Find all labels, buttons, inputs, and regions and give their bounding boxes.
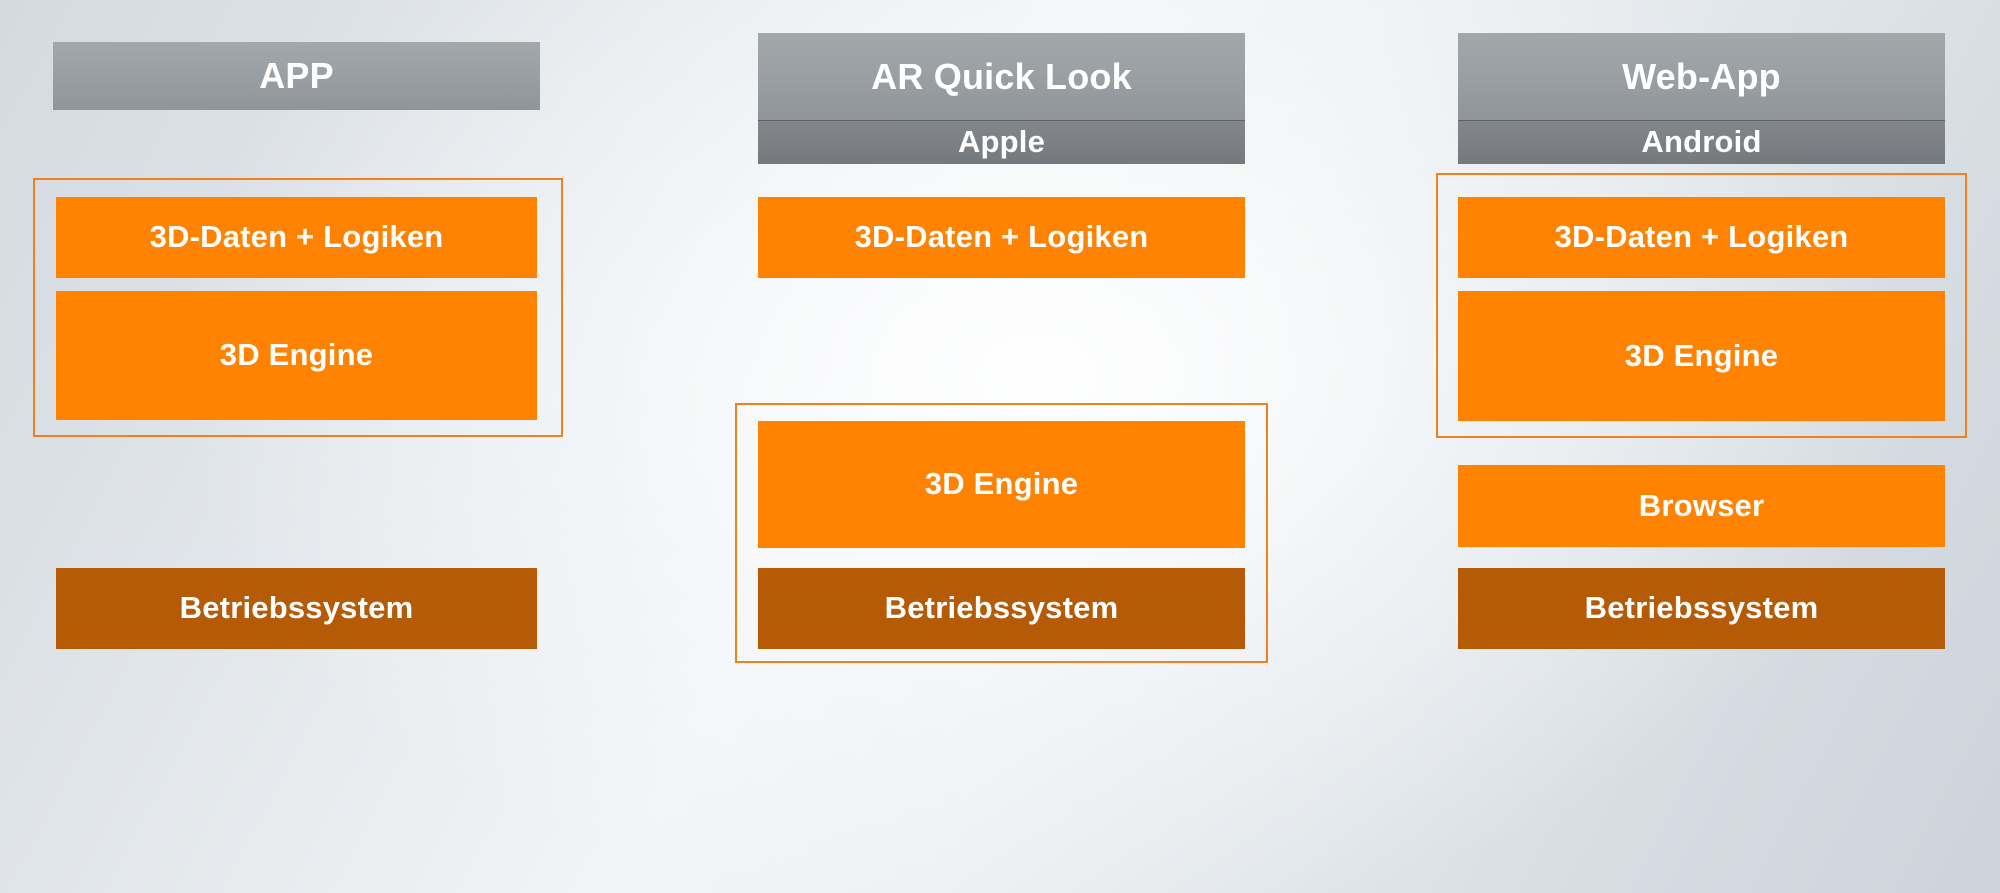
column-ar-quick-look-block-betriebssystem: Betriebssystem	[758, 568, 1245, 649]
column-ar-quick-look-block-3d-daten: 3D-Daten + Logiken	[758, 197, 1245, 278]
column-ar-quick-look-platform: Apple	[758, 120, 1245, 164]
column-app-header: APP	[53, 42, 540, 110]
column-ar-quick-look-header: AR Quick Look	[758, 33, 1245, 120]
column-web-app-block-browser: Browser	[1458, 465, 1945, 547]
column-web-app-platform: Android	[1458, 120, 1945, 164]
column-web-app-block-betriebssystem: Betriebssystem	[1458, 568, 1945, 649]
column-web-app-header: Web-App	[1458, 33, 1945, 120]
column-web-app-block-3d-daten: 3D-Daten + Logiken	[1458, 197, 1945, 278]
column-app-block-3d-daten: 3D-Daten + Logiken	[56, 197, 537, 278]
diagram-canvas: APP 3D-Daten + Logiken 3D Engine Betrieb…	[0, 0, 2000, 893]
column-app-block-betriebssystem: Betriebssystem	[56, 568, 537, 649]
column-app-block-3d-engine: 3D Engine	[56, 291, 537, 420]
column-web-app-block-3d-engine: 3D Engine	[1458, 291, 1945, 421]
column-ar-quick-look-block-3d-engine: 3D Engine	[758, 421, 1245, 548]
